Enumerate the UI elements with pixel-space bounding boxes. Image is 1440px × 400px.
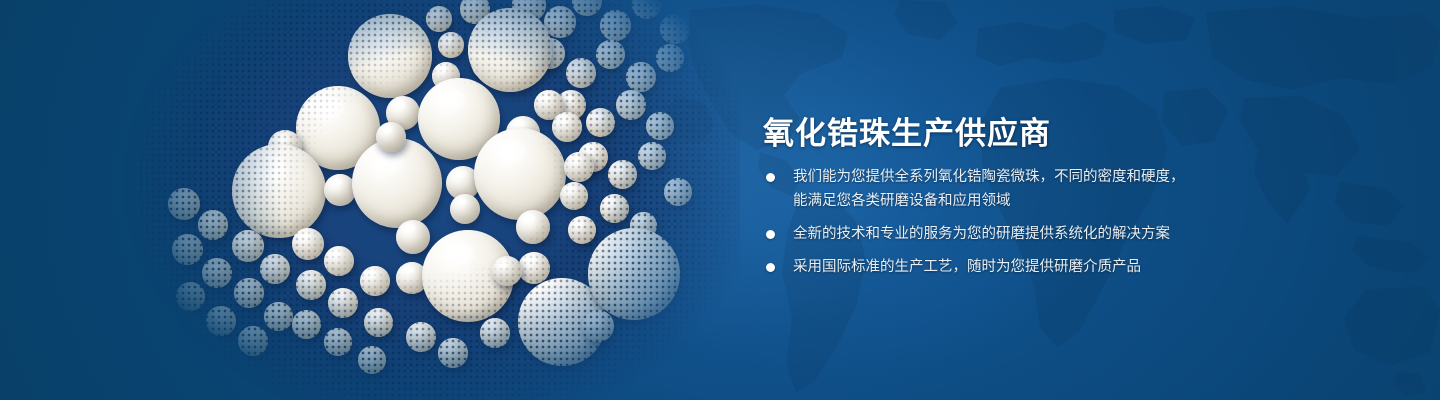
bullet-dot-icon <box>766 230 775 239</box>
bullet-item-3: 采用国际标准的生产工艺，随时为您提供研磨介质产品 <box>766 255 1231 279</box>
bullet-1-line-2: 能满足您各类研磨设备和应用领域 <box>793 189 1231 213</box>
bullet-2-line-1: 全新的技术和专业的服务为您的研磨提供系统化的解决方案 <box>793 222 1231 246</box>
hero-banner: 氧化锆珠生产供应商 我们能为您提供全系列氧化锆陶瓷微珠，不同的密度和硬度， 能满… <box>0 0 1440 400</box>
bullet-dot-icon <box>766 173 775 182</box>
bullet-1-line-1: 我们能为您提供全系列氧化锆陶瓷微珠，不同的密度和硬度， <box>793 165 1231 189</box>
bullet-3-line-1: 采用国际标准的生产工艺，随时为您提供研磨介质产品 <box>793 255 1231 279</box>
bullet-dot-icon <box>766 263 775 272</box>
banner-headline: 氧化锆珠生产供应商 <box>763 108 1051 153</box>
banner-content: 氧化锆珠生产供应商 我们能为您提供全系列氧化锆陶瓷微珠，不同的密度和硬度， 能满… <box>763 0 1233 400</box>
bullet-item-2: 全新的技术和专业的服务为您的研磨提供系统化的解决方案 <box>766 222 1231 246</box>
banner-bullet-list: 我们能为您提供全系列氧化锆陶瓷微珠，不同的密度和硬度， 能满足您各类研磨设备和应… <box>766 165 1231 279</box>
bullet-item-1: 我们能为您提供全系列氧化锆陶瓷微珠，不同的密度和硬度， 能满足您各类研磨设备和应… <box>766 165 1231 213</box>
bead-cluster <box>120 0 740 400</box>
product-photo-zirconia-beads <box>120 0 740 400</box>
